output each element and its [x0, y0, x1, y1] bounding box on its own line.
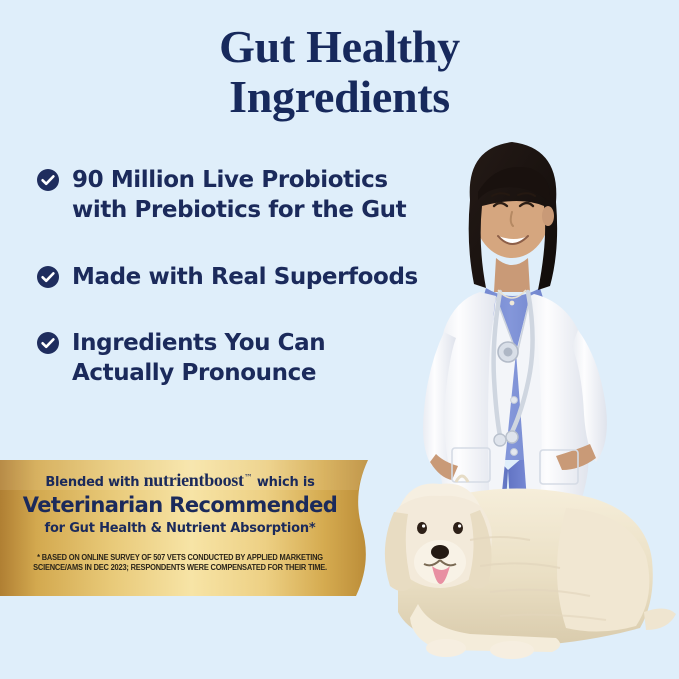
page-title-line-2: Ingredients — [0, 72, 679, 122]
ribbon-subline: for Gut Health & Nutrient Absorption* — [0, 521, 360, 536]
list-item: 90 Million Live Probiotics with Prebioti… — [36, 165, 436, 226]
vet-figure — [423, 142, 607, 606]
ribbon-prefix: Blended with — [45, 475, 143, 490]
list-item-label: Made with Real Superfoods — [72, 262, 418, 292]
benefits-list: 90 Million Live Probiotics with Prebioti… — [36, 165, 436, 389]
dog-figure — [385, 476, 676, 659]
ribbon-headline: Veterinarian Recommended — [0, 493, 360, 518]
check-circle-icon — [36, 168, 60, 192]
veterinarian-recommended-banner: Blended with nutrientboost™ which is Vet… — [0, 460, 395, 596]
list-item: Made with Real Superfoods — [36, 262, 436, 292]
page-title-line-1: Gut Healthy — [219, 21, 460, 72]
list-item: Ingredients You Can Actually Pronounce — [36, 328, 436, 389]
brand-name: nutrientboost — [144, 470, 244, 490]
ribbon-suffix: which is — [253, 475, 315, 490]
trademark-symbol: ™ — [244, 474, 253, 484]
ribbon-text-block: Blended with nutrientboost™ which is Vet… — [0, 460, 360, 596]
survey-disclaimer: * BASED ON ONLINE SURVEY OF 507 VETS CON… — [13, 553, 348, 575]
list-item-label: Ingredients You Can Actually Pronounce — [72, 328, 325, 389]
poster-canvas: Gut Healthy Ingredients 90 Million Live … — [0, 0, 679, 679]
check-circle-icon — [36, 331, 60, 355]
page-title: Gut Healthy Ingredients — [0, 22, 679, 121]
list-item-label: 90 Million Live Probiotics with Prebioti… — [72, 165, 406, 226]
ribbon-line-1: Blended with nutrientboost™ which is — [0, 469, 360, 492]
check-circle-icon — [36, 265, 60, 289]
